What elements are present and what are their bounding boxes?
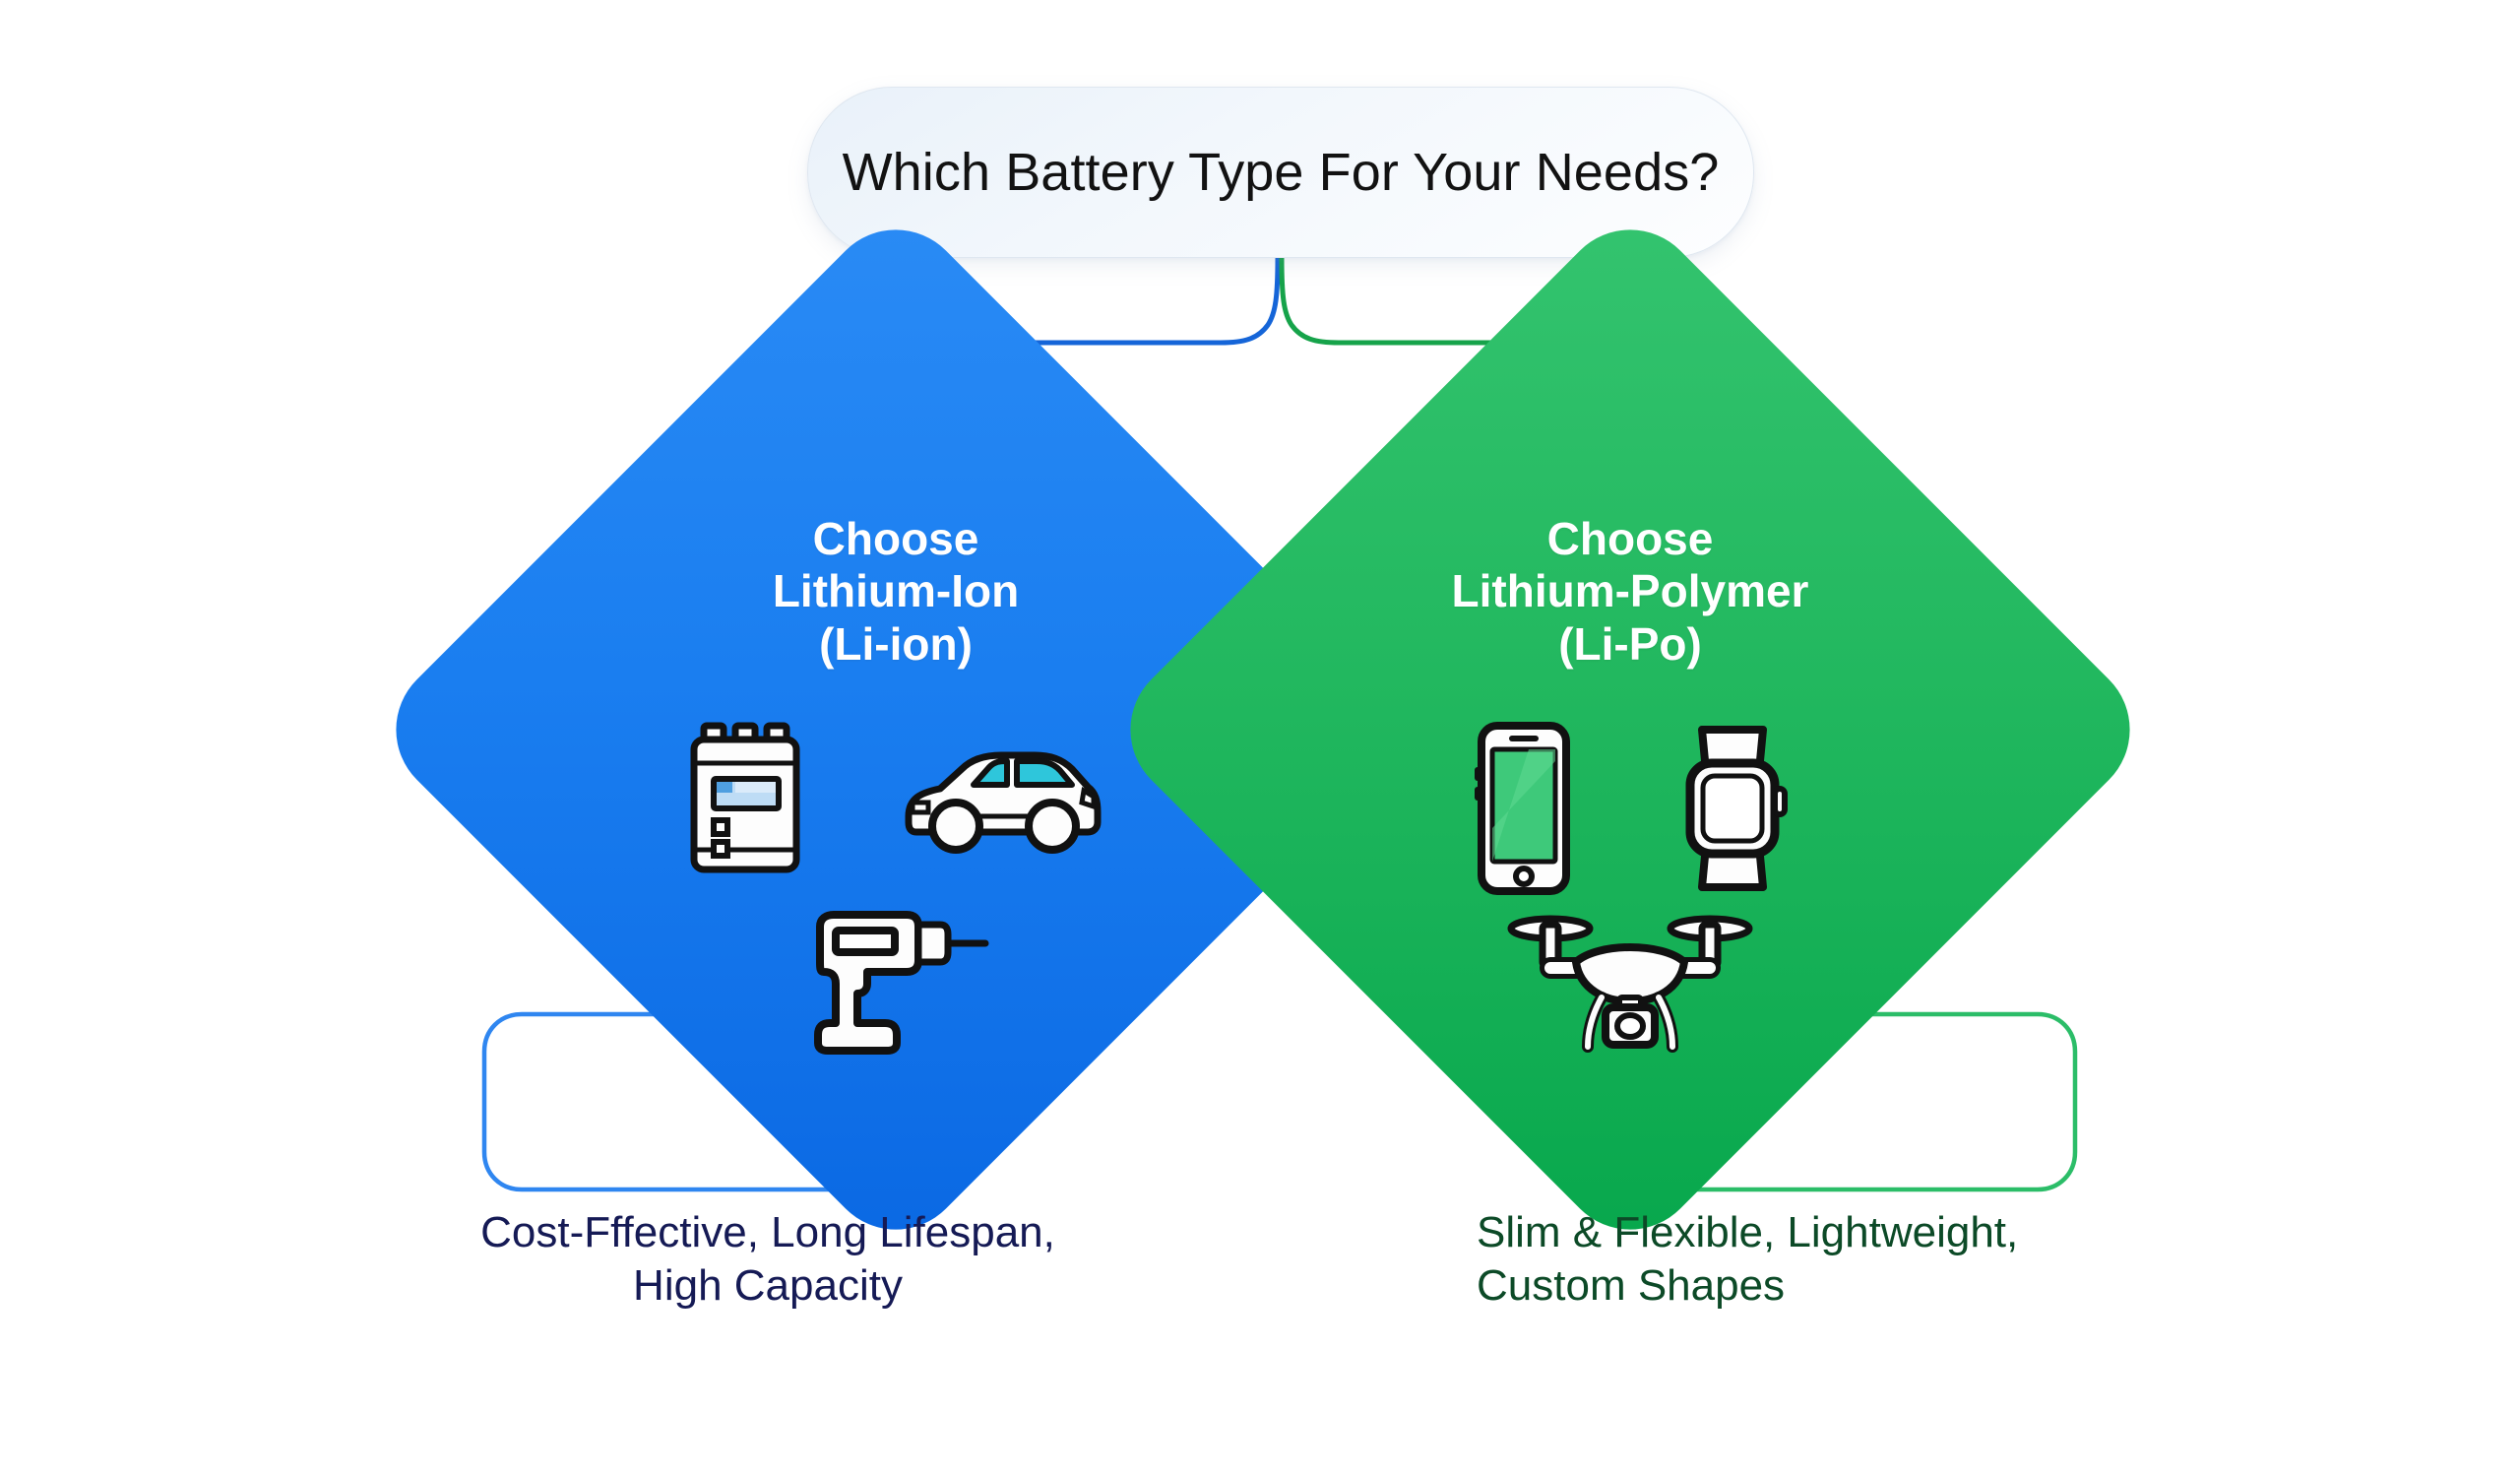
branch-title-line-3: (Li-Po) (1256, 618, 2004, 671)
page-title: Which Battery Type For Your Needs? (843, 142, 1720, 203)
power-drill-icon (802, 907, 989, 1060)
branch-title-line-2: Lithium-Ion (522, 565, 1270, 617)
caption-line-1: Slim & Flexible, Lightweight, (1339, 1206, 2185, 1259)
branch-node-li-po-title: Choose Lithium-Polymer (Li-Po) (1256, 513, 2004, 671)
li-ion-icon-row-bottom (522, 907, 1270, 1060)
branch-title-line-1: Choose (1256, 513, 2004, 565)
car-icon (899, 739, 1105, 863)
smartphone-icon (1470, 720, 1578, 902)
branch-node-li-ion-title: Choose Lithium-Ion (Li-ion) (522, 513, 1270, 671)
branch-node-li-po-content: Choose Lithium-Polymer (Li-Po) (1256, 355, 2004, 1104)
smartwatch-icon (1672, 720, 1791, 902)
caption-line-2: High Capacity (345, 1259, 1191, 1313)
branch-title-line-2: Lithium-Polymer (1256, 565, 2004, 617)
caption-line-1: Cost-Fffective, Long Lifespan, (345, 1206, 1191, 1259)
branch-node-li-po[interactable]: Choose Lithium-Polymer (Li-Po) (1102, 201, 2160, 1259)
branch-title-line-3: (Li-ion) (522, 618, 1270, 671)
diagram-canvas: Which Battery Type For Your Needs? Choos… (0, 0, 2520, 1418)
caption-li-po: Slim & Flexible, Lightweight, Custom Sha… (1339, 1206, 2185, 1312)
drone-icon (1507, 907, 1753, 1060)
caption-li-ion: Cost-Fffective, Long Lifespan, High Capa… (345, 1206, 1191, 1312)
li-po-icon-row-bottom (1256, 907, 2004, 1060)
branch-title-line-1: Choose (522, 513, 1270, 565)
caption-line-2: Custom Shapes (1339, 1259, 2185, 1313)
li-po-icon-row-top (1256, 720, 2004, 902)
battery-pack-icon (686, 720, 804, 882)
